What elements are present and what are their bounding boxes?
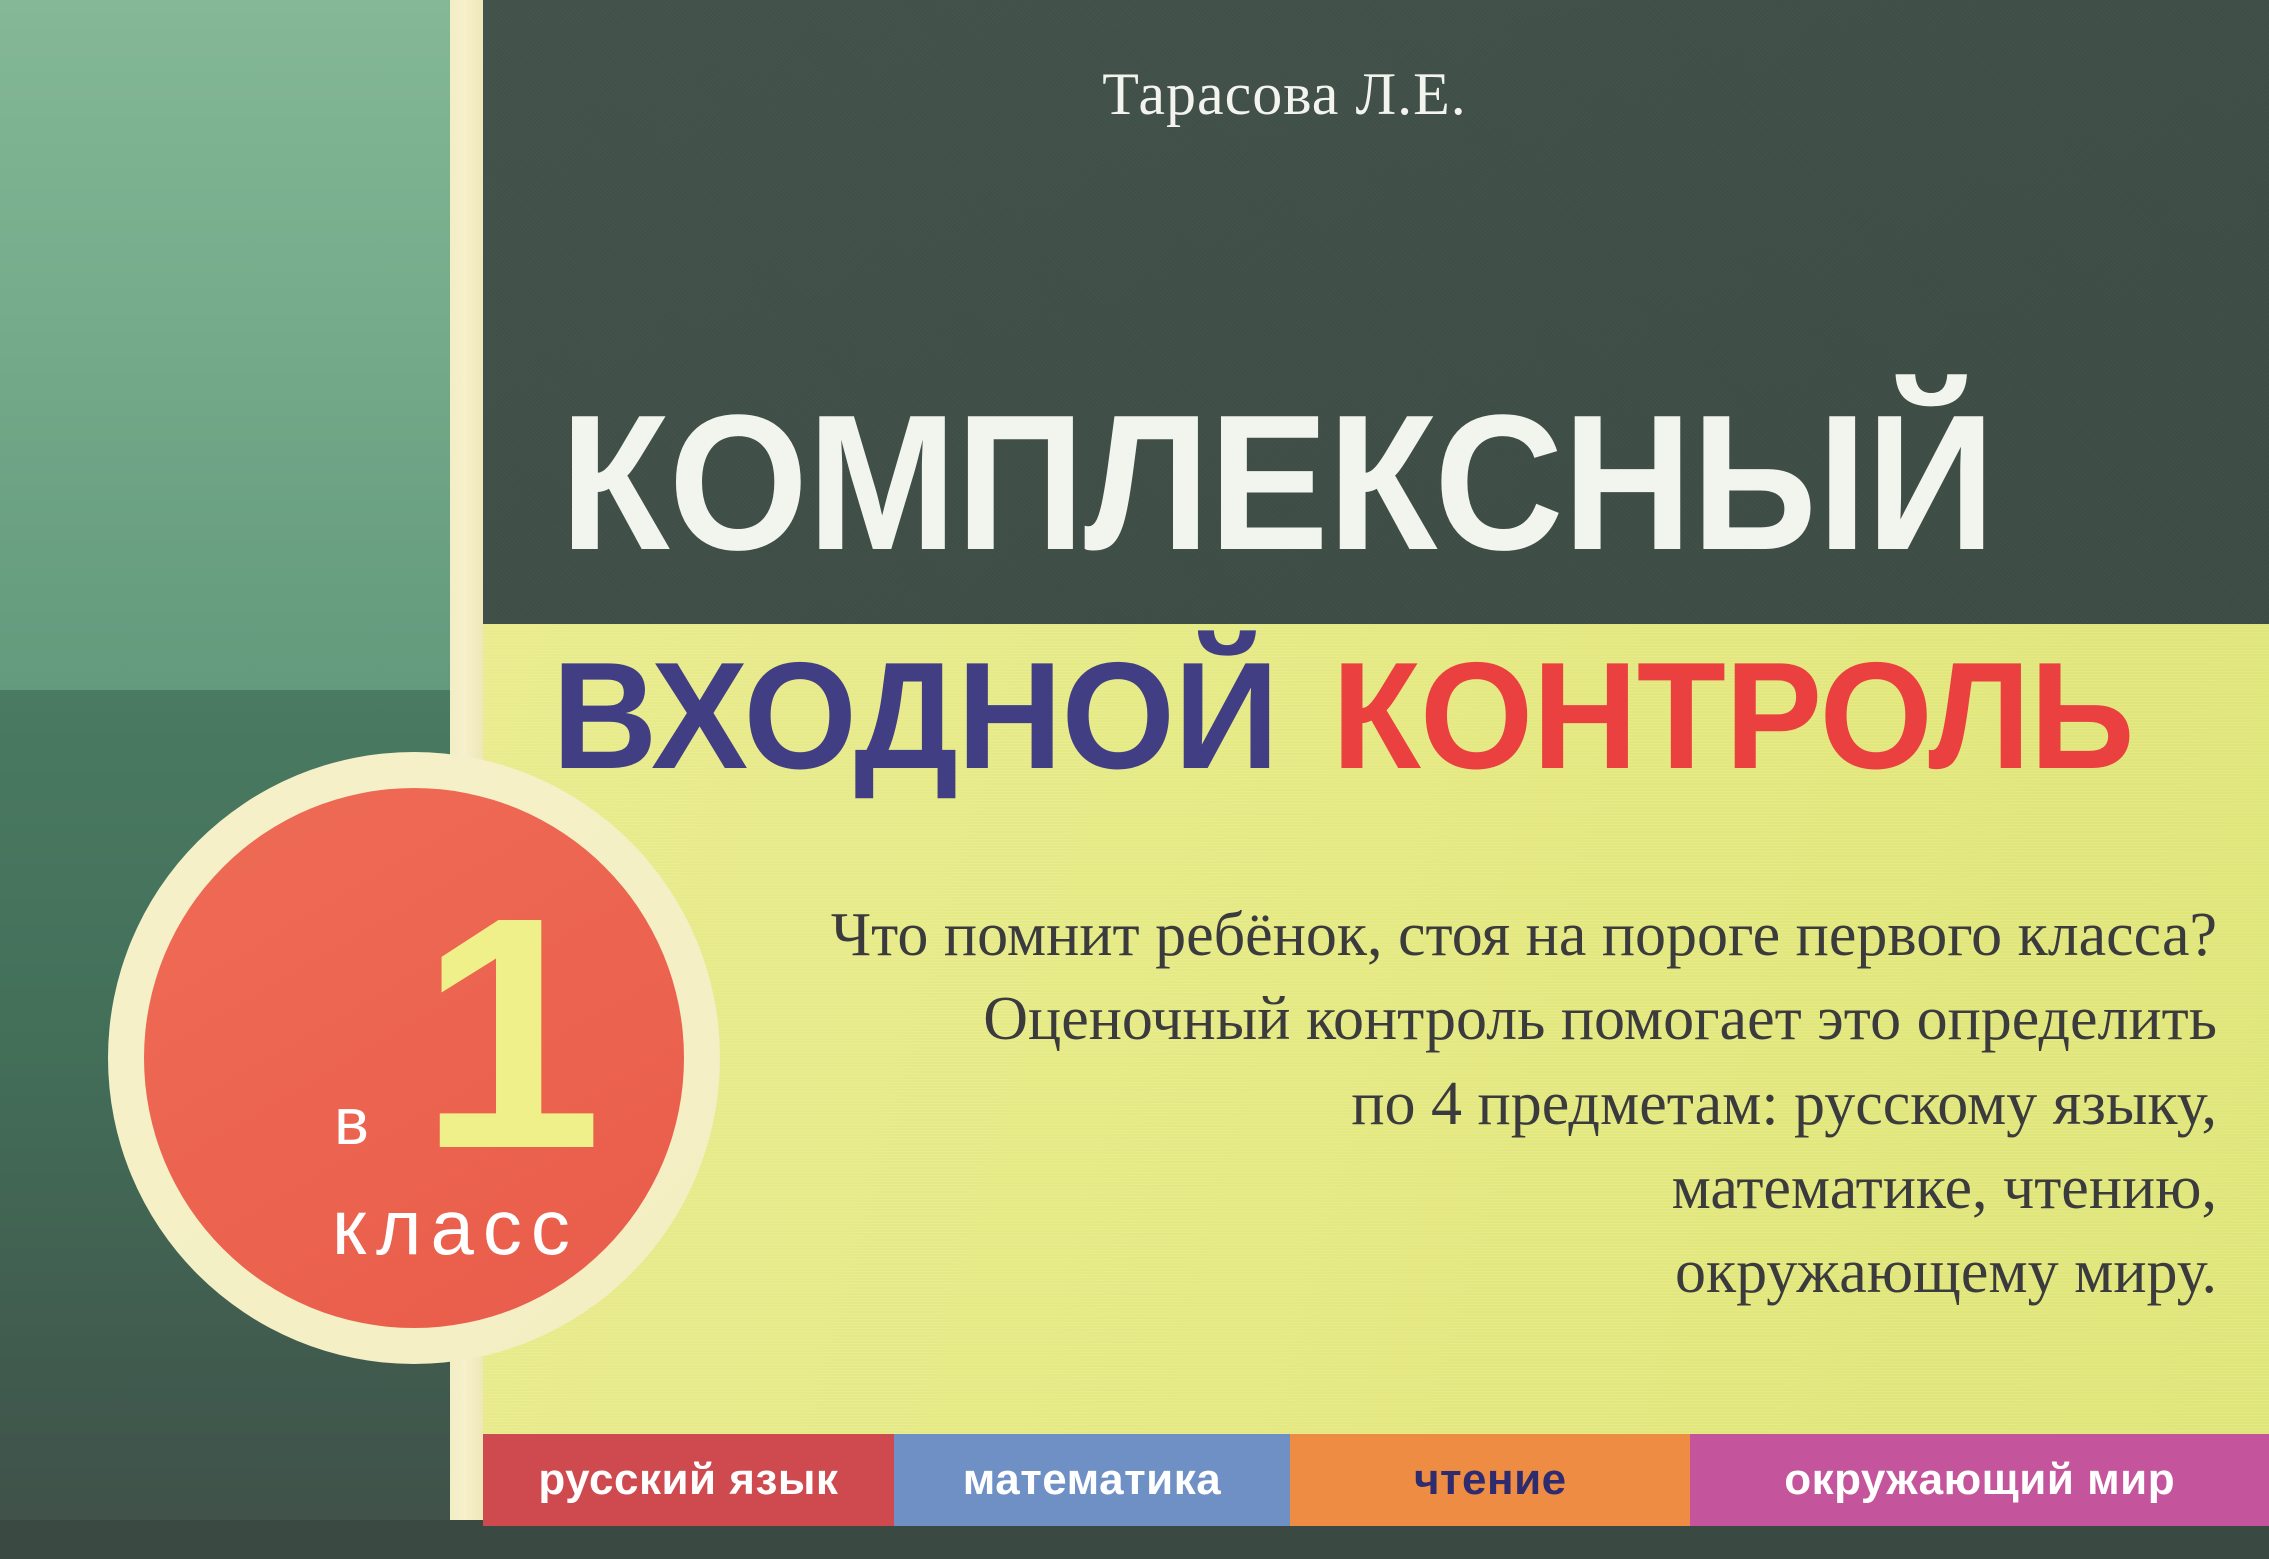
description-line-4: математике, чтению, [697, 1146, 2217, 1230]
grade-number: 1 [419, 868, 597, 1198]
description-block: Что помнит ребёнок, стоя на пороге перво… [697, 893, 2217, 1315]
title-word-vhodnoy: ВХОДНОЙ [552, 631, 1278, 801]
grade-preposition: в [334, 1088, 369, 1154]
author-name: Тарасова Л.Е. [0, 60, 2269, 129]
subject-reading: чтение [1290, 1434, 1690, 1526]
subject-bar: русский язык математика чтение окружающи… [483, 1434, 2269, 1526]
grade-badge-circle: 1 в класс [144, 788, 684, 1328]
description-line-2: Оценочный контроль помогает это определи… [697, 977, 2217, 1061]
description-line-5: окружающему миру. [697, 1230, 2217, 1314]
title-line-two: ВХОДНОЙКОНТРОЛЬ [552, 640, 2242, 792]
author-name-text: Тарасова Л.Е. [1102, 60, 1467, 129]
subject-world-around-us: окружающий мир [1690, 1434, 2269, 1526]
grade-unit-label: класс [332, 1188, 579, 1266]
subject-mathematics: математика [894, 1434, 1290, 1526]
subject-russian-language: русский язык [483, 1434, 894, 1526]
title-line-one: КОМПЛЕКСНЫЙ [560, 386, 2141, 579]
description-line-3: по 4 предметам: русскому языку, [697, 1062, 2217, 1146]
title-word-kontrol: КОНТРОЛЬ [1332, 631, 2134, 801]
book-cover: Тарасова Л.Е. КОМПЛЕКСНЫЙ ВХОДНОЙКОНТРОЛ… [0, 0, 2269, 1559]
grade-badge: 1 в класс [108, 752, 720, 1364]
description-line-1: Что помнит ребёнок, стоя на пороге перво… [697, 893, 2217, 977]
